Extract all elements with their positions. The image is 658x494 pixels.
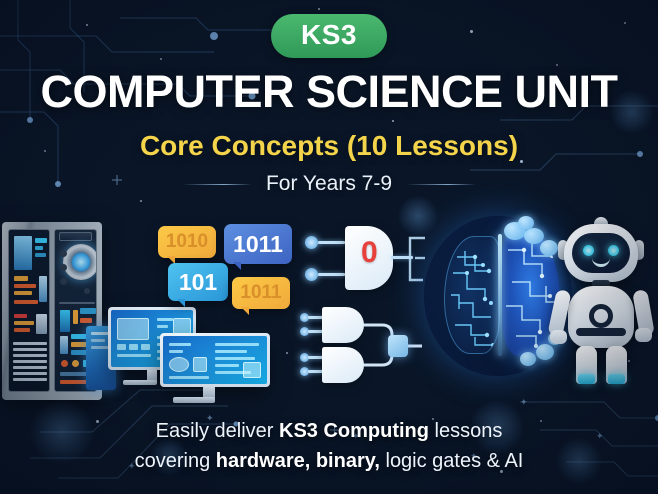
footer-line2-bold: hardware, binary, xyxy=(216,450,380,472)
footer-line1-post: lessons xyxy=(429,420,502,442)
footer-line2-post: logic gates & AI xyxy=(380,450,523,472)
poster-canvas: ✦ ✦ ✦ ✦ ✦ ✦ xyxy=(0,0,658,494)
footer-line-2: covering hardware, binary, logic gates &… xyxy=(0,446,658,476)
decorative-line-right xyxy=(406,184,476,185)
ks3-badge: KS3 xyxy=(271,14,387,58)
footer-line-1: Easily deliver KS3 Computing lessons xyxy=(0,416,658,446)
decorative-line-left xyxy=(182,184,252,185)
footer-line2-pre: covering xyxy=(135,450,216,472)
page-title: COMPUTER SCIENCE UNIT xyxy=(0,66,658,118)
year-range-label: For Years 7-9 xyxy=(266,172,392,196)
footer-description: Easily deliver KS3 Computing lessons cov… xyxy=(0,416,658,476)
footer-line1-pre: Easily deliver xyxy=(156,420,279,442)
page-subtitle: Core Concepts (10 Lessons) xyxy=(0,130,658,162)
footer-line1-bold: KS3 Computing xyxy=(279,420,429,442)
year-range-row: For Years 7-9 xyxy=(0,172,658,196)
